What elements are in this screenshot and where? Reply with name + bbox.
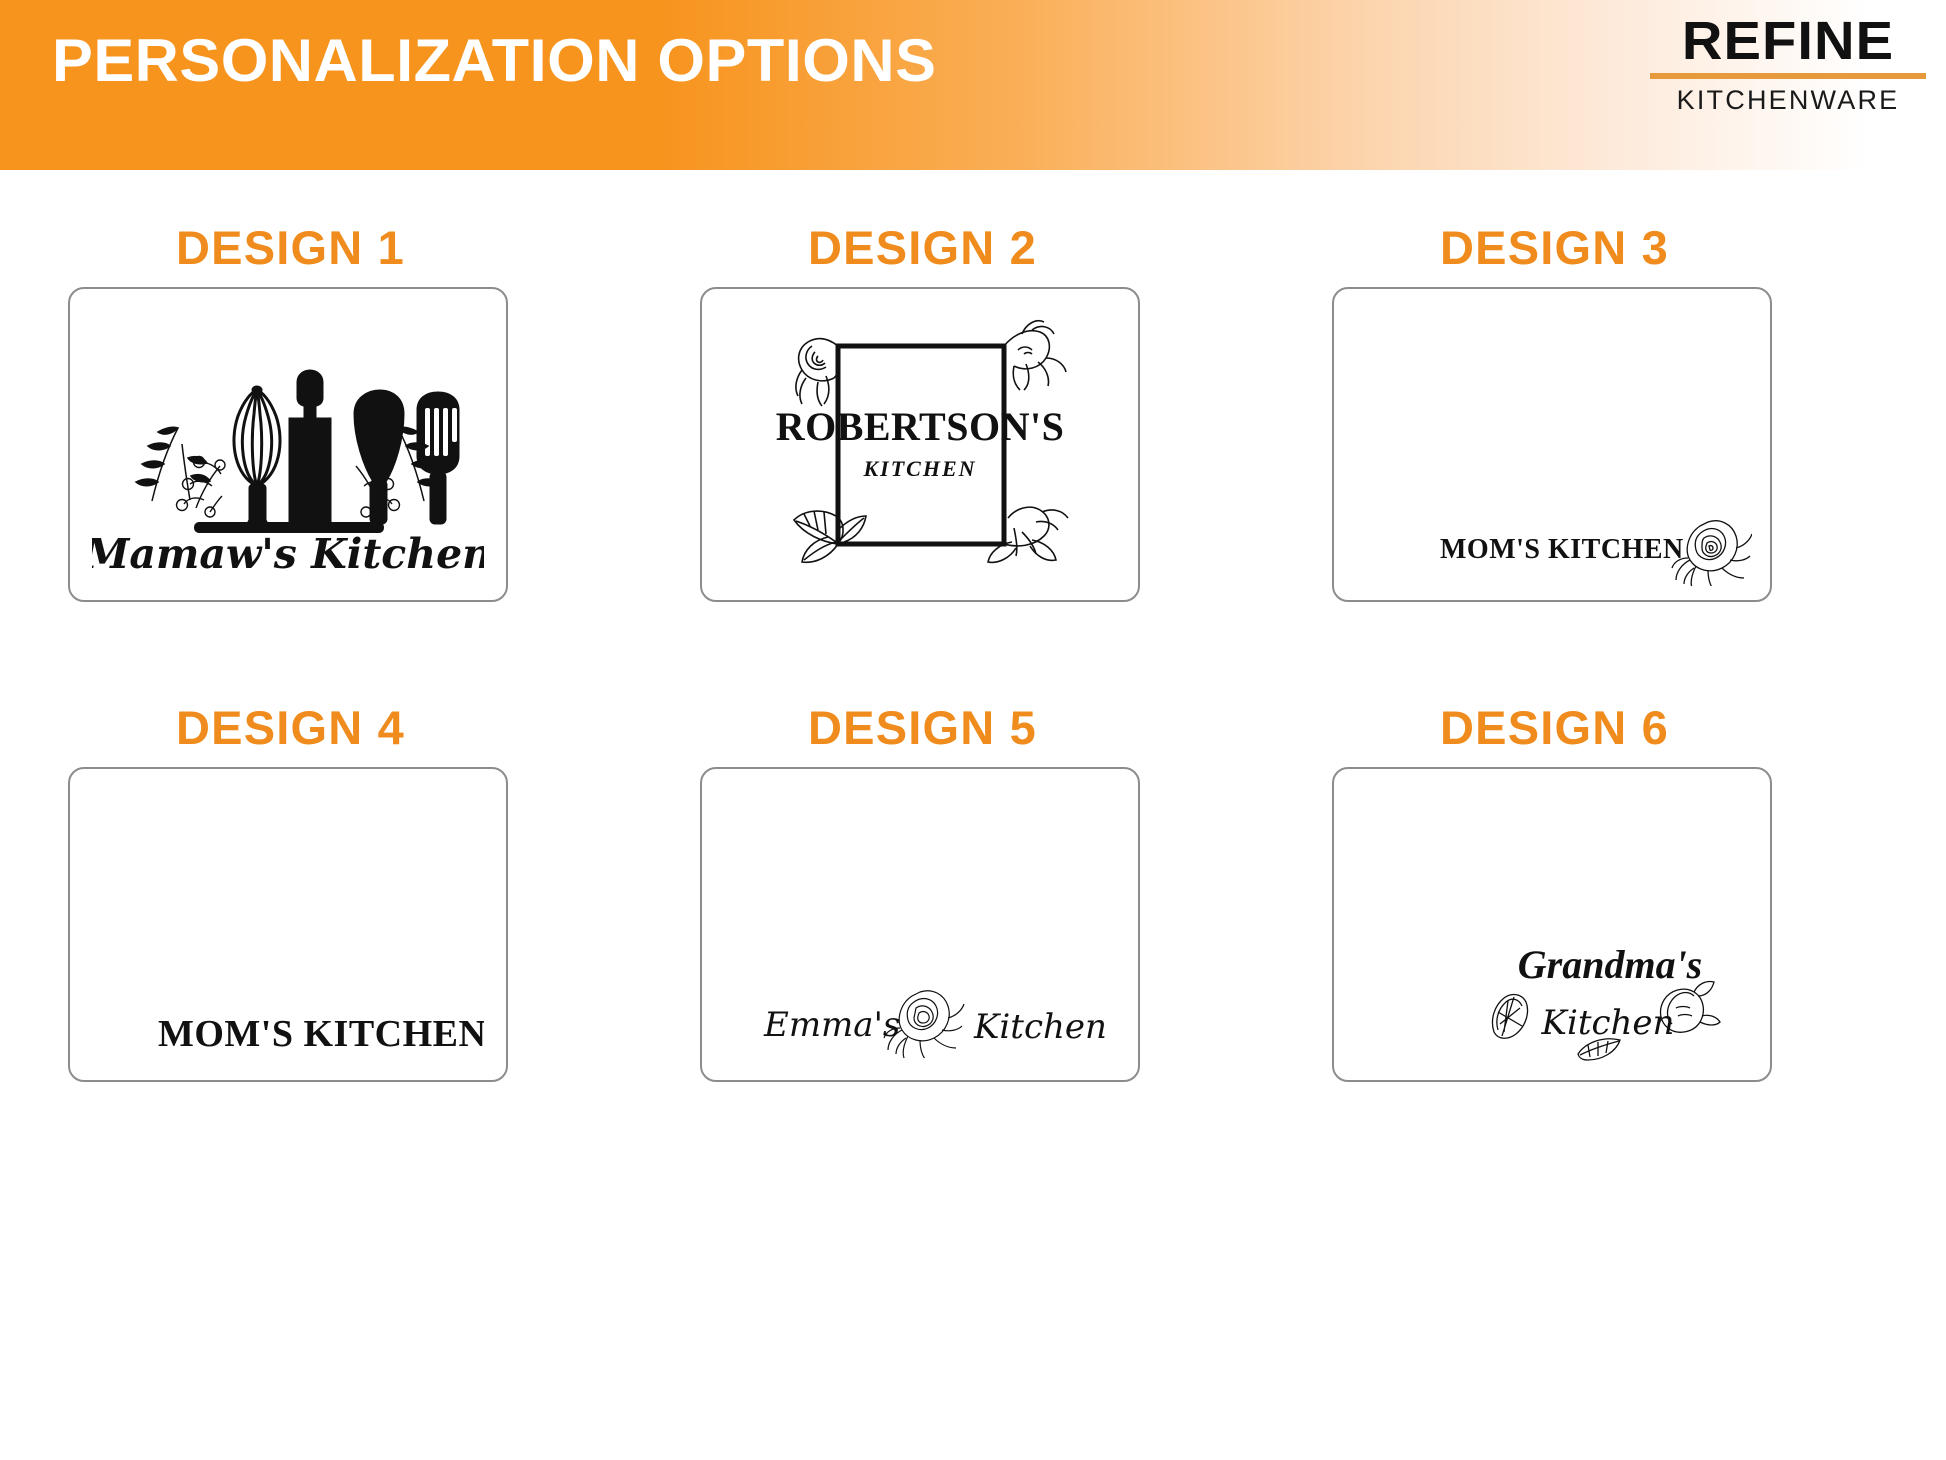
design-1-engraving-text: Mamaw's Kitchen [92,530,484,578]
moms-kitchen-rose-icon: MOM'S KITCHEN [1434,508,1752,586]
design-2-engraving-subtext: KITCHEN [862,456,976,481]
design-cell-3[interactable]: DESIGN 3 MOM'S KITCHEN [1332,220,1772,602]
moms-kitchen-engraving-3: MOM'S KITCHEN [1434,508,1752,586]
brand-rule [1650,73,1926,79]
design-2-artwork: ROBERTSON'S KITCHEN [702,289,1138,600]
design-2-title: DESIGN 2 [808,220,1140,275]
design-5-engraving-subtext: Kitchen [973,1007,1107,1047]
emmas-kitchen-engraving: Emma's Kitchen [762,982,1112,1058]
design-1-title: DESIGN 1 [176,220,508,275]
design-3-artwork: MOM'S KITCHEN [1334,289,1770,600]
lily-bottom-icon [988,507,1068,562]
brand-logo: REFINE KITCHENWARE [1648,14,1928,116]
design-3-engraving-text: MOM'S KITCHEN [1440,534,1684,565]
design-6-card[interactable]: Grandma's Kitchen [1332,767,1772,1082]
lemon-slice-icon [1492,995,1527,1039]
design-grid: DESIGN 1 [0,170,1946,1460]
design-2-card[interactable]: ROBERTSON'S KITCHEN [700,287,1140,602]
moms-kitchen-text-icon: MOM'S KITCHEN [154,1000,484,1062]
design-5-engraving-text: Emma's [763,1005,900,1045]
grandmas-kitchen-engraving: Grandma's Kitchen [1480,930,1740,1062]
design-cell-5[interactable]: DESIGN 5 Emma's [700,700,1140,1082]
design-cell-4[interactable]: DESIGN 4 MOM'S KITCHEN [68,700,508,1082]
design-2-engraving-text: ROBERTSON'S [776,404,1065,449]
design-6-title: DESIGN 6 [1440,700,1772,755]
design-1-artwork: Mamaw's Kitchen [70,289,506,600]
lily-icon [1004,320,1066,389]
design-6-engraving-subtext: Kitchen [1541,1003,1675,1043]
design-5-artwork: Emma's Kitchen [702,769,1138,1080]
emmas-kitchen-rose-icon: Emma's Kitchen [762,982,1112,1058]
design-5-title: DESIGN 5 [808,700,1140,755]
design-3-card[interactable]: MOM'S KITCHEN [1332,287,1772,602]
design-4-artwork: MOM'S KITCHEN [70,769,506,1080]
personalization-options-page: PERSONALIZATION OPTIONS REFINE KITCHENWA… [0,0,1946,1460]
rose-icon [1672,521,1752,586]
design-1-card[interactable]: Mamaw's Kitchen [68,287,508,602]
leaves-icon [794,511,866,562]
design-cell-1[interactable]: DESIGN 1 [68,220,508,602]
page-header: PERSONALIZATION OPTIONS REFINE KITCHENWA… [0,0,1946,170]
brand-tagline: KITCHENWARE [1648,85,1928,116]
design-4-card[interactable]: MOM'S KITCHEN [68,767,508,1082]
grandmas-kitchen-icon: Grandma's Kitchen [1480,930,1740,1062]
floral-frame-icon: ROBERTSON'S KITCHEN [760,316,1080,574]
mamaws-kitchen-engraving: Mamaw's Kitchen [92,316,484,586]
design-6-artwork: Grandma's Kitchen [1334,769,1770,1080]
design-6-engraving-text: Grandma's [1518,942,1703,987]
rose-icon [796,338,839,405]
design-5-card[interactable]: Emma's Kitchen [700,767,1140,1082]
design-4-engraving-text: MOM'S KITCHEN [158,1013,484,1055]
design-3-title: DESIGN 3 [1440,220,1772,275]
robertsons-kitchen-engraving: ROBERTSON'S KITCHEN [760,316,1080,574]
brand-name: REFINE [1642,14,1933,68]
page-title: PERSONALIZATION OPTIONS [52,26,936,95]
moms-kitchen-engraving-4: MOM'S KITCHEN [154,1000,484,1062]
design-cell-2[interactable]: DESIGN 2 [700,220,1140,602]
design-cell-6[interactable]: DESIGN 6 Grandma's Kitchen [1332,700,1772,1082]
utensils-botanical-icon: Mamaw's Kitchen [92,316,484,586]
design-4-title: DESIGN 4 [176,700,508,755]
